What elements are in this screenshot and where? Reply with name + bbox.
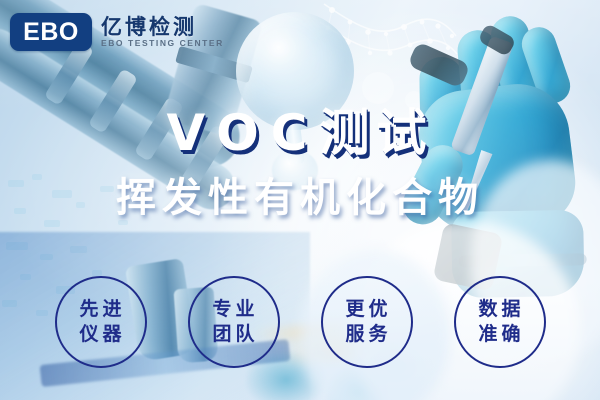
brand-logo[interactable]: EBO 亿博检测 EBO TESTING CENTER — [10, 11, 224, 53]
feature-badges: 先进 仪器 专业 团队 更优 服务 数据 准确 — [0, 274, 600, 370]
badge-professional-team[interactable]: 专业 团队 — [188, 276, 280, 368]
badge-line-2: 仪器 — [75, 324, 125, 345]
page-title-en: VOC — [166, 104, 319, 162]
logo-wordmark: 亿博检测 EBO TESTING CENTER — [101, 16, 224, 48]
headline-block: VOC测试 挥发性有机化合物 — [0, 104, 600, 220]
badge-line-1: 更优 — [341, 299, 391, 320]
badge-line-1: 数据 — [474, 299, 524, 320]
badge-line-2: 团队 — [208, 324, 258, 345]
badge-line-1: 专业 — [208, 299, 258, 320]
logo-mark-ebo: EBO — [10, 13, 92, 51]
badge-line-1: 先进 — [75, 299, 125, 320]
voc-testing-banner: EBO 亿博检测 EBO TESTING CENTER VOC测试 挥发性有机化… — [0, 0, 600, 400]
badge-advanced-instruments[interactable]: 先进 仪器 — [55, 276, 147, 368]
badge-line-2: 准确 — [474, 324, 524, 345]
badge-line-2: 服务 — [341, 324, 391, 345]
page-title: VOC测试 — [0, 104, 600, 162]
logo-company-name-en: EBO TESTING CENTER — [101, 39, 224, 48]
page-subtitle: 挥发性有机化合物 — [0, 176, 600, 220]
badge-accurate-data[interactable]: 数据 准确 — [454, 276, 546, 368]
badge-better-service[interactable]: 更优 服务 — [321, 276, 413, 368]
logo-mark-text: EBO — [23, 20, 79, 45]
page-title-cn: 测试 — [320, 104, 434, 162]
logo-company-name-cn: 亿博检测 — [101, 16, 224, 38]
